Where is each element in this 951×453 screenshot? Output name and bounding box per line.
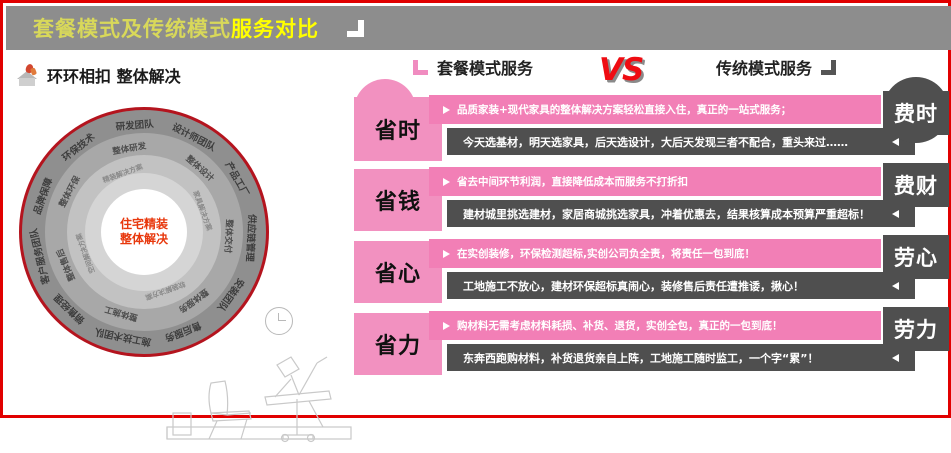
slide-root: 套餐模式及传统模式服务对比 环环相扣 整体解决 研发团队设计师团队产品工厂供应链…	[0, 0, 951, 418]
drawback-label: 费时	[894, 98, 938, 128]
comparison-header-right: 传统模式服务	[716, 55, 836, 79]
left-column-header: 套餐模式服务	[437, 55, 533, 79]
drawback-badge: 劳力	[883, 307, 949, 351]
drawback-badge: 劳心	[883, 235, 949, 279]
advantage-text: 品质家装+现代家具的整体解决方案轻松直接入住，真正的一站式服务；	[457, 102, 791, 117]
advantage-bar: 购材料无需考虑材料耗损、补货、退货，实创全包，真正的一包到底！	[429, 311, 881, 340]
advantage-bar: 品质家装+现代家具的整体解决方案轻松直接入住，真正的一站式服务；	[429, 95, 881, 124]
triangle-right-icon	[443, 178, 450, 186]
drawback-label: 劳心	[894, 242, 938, 272]
drawback-text: 今天选基材，明天选家具，后天选设计，大后天发现三者不配合，重头来过……	[463, 134, 848, 150]
comparison-row: 省力 购材料无需考虑材料耗损、补货、退货，实创全包，真正的一包到底！ 东奔西跑购…	[351, 305, 947, 377]
advantage-text: 购材料无需考虑材料耗损、补货、退货，实创全包，真正的一包到底！	[457, 318, 783, 333]
drawback-bar: 建材城里挑选建材，家居商城挑选家具，冲着优惠去，结果核算成本预算严重超标！	[447, 198, 917, 229]
drawback-bar: 工地施工不放心，建材环保超标真闹心，装修售后责任遭推诿，揪心！	[447, 270, 917, 301]
right-column-header: 传统模式服务	[716, 55, 812, 79]
page-title-highlight: 服务对比	[231, 17, 319, 41]
triangle-right-icon	[443, 250, 450, 258]
comparison-panel: 套餐模式服务 VS 传统模式服务 省时 品质家装+现代家具的整体解决方案轻松直接…	[351, 55, 947, 415]
page-title-plain: 套餐模式及传统模式	[33, 17, 231, 41]
advantage-text: 省去中间环节利润，直接降低成本而服务不打折扣	[457, 174, 688, 189]
advantage-bar: 省去中间环节利润，直接降低成本而服务不打折扣	[429, 167, 881, 196]
core-line-1: 住宅精装	[120, 217, 168, 232]
left-panel: 环环相扣 整体解决 研发团队设计师团队产品工厂供应链管理安装团队售后服务施工技术…	[9, 55, 349, 415]
house-icon	[15, 64, 39, 86]
drawback-label: 费财	[894, 170, 938, 200]
drawback-badge: 费财	[883, 163, 949, 207]
office-sketch	[159, 335, 359, 453]
vs-label: VS	[599, 52, 643, 88]
advantage-label: 省钱	[375, 184, 421, 216]
clock-icon	[265, 307, 293, 335]
triangle-left-icon	[892, 210, 899, 218]
drawback-text: 建材城里挑选建材，家居商城挑选家具，冲着优惠去，结果核算成本预算严重超标！	[463, 206, 870, 222]
drawback-text: 工地施工不放心，建材环保超标真闹心，装修售后责任遭推诿，揪心！	[463, 278, 804, 294]
advantage-bar: 在实创装修，环保检测超标,实创公司负全责，将责任一包到底！	[429, 239, 881, 268]
corner-bracket-pink-icon	[413, 60, 428, 75]
comparison-row: 省钱 省去中间环节利润，直接降低成本而服务不打折扣 建材城里挑选建材，家居商城挑…	[351, 161, 947, 233]
drawback-bar: 东奔西跑购材料，补货退货亲自上阵，工地施工随时监工，一个字“累”！	[447, 342, 917, 373]
drawback-label: 劳力	[894, 314, 938, 344]
left-panel-heading: 环环相扣 整体解决	[15, 63, 181, 87]
triangle-left-icon	[892, 282, 899, 290]
header-bar: 套餐模式及传统模式服务对比	[6, 6, 951, 50]
comparison-row: 省时 品质家装+现代家具的整体解决方案轻松直接入住，真正的一站式服务； 今天选基…	[351, 89, 947, 161]
triangle-left-icon	[892, 354, 899, 362]
triangle-right-icon	[443, 106, 450, 114]
core-line-2: 整体解决	[120, 232, 168, 247]
advantage-label: 省时	[375, 113, 421, 145]
advantage-text: 在实创装修，环保检测超标,实创公司负全责，将责任一包到底！	[457, 246, 755, 261]
corner-bracket-gray-icon	[821, 60, 836, 75]
drawback-text: 东奔西跑购材料，补货退货亲自上阵，工地施工随时监工，一个字“累”！	[463, 350, 818, 366]
corner-bracket-icon	[347, 20, 364, 37]
drawback-badge: 费时	[883, 91, 949, 135]
ring-core-text: 住宅精装 整体解决	[101, 189, 187, 275]
triangle-left-icon	[892, 138, 899, 146]
page-title: 套餐模式及传统模式服务对比	[33, 13, 319, 43]
advantage-label: 省力	[375, 328, 421, 360]
comparison-row: 省心 在实创装修，环保检测超标,实创公司负全责，将责任一包到底！ 工地施工不放心…	[351, 233, 947, 305]
triangle-right-icon	[443, 322, 450, 330]
comparison-header-left: 套餐模式服务	[413, 55, 533, 79]
drawback-bar: 今天选基材，明天选家具，后天选设计，大后天发现三者不配合，重头来过……	[447, 126, 917, 157]
comparison-header: 套餐模式服务 VS 传统模式服务	[351, 55, 947, 87]
advantage-label: 省心	[375, 256, 421, 288]
circular-diagram: 研发团队设计师团队产品工厂供应链管理安装团队售后服务施工技术团队销售经理客户服务…	[19, 107, 269, 357]
left-panel-title: 环环相扣 整体解决	[47, 63, 181, 87]
